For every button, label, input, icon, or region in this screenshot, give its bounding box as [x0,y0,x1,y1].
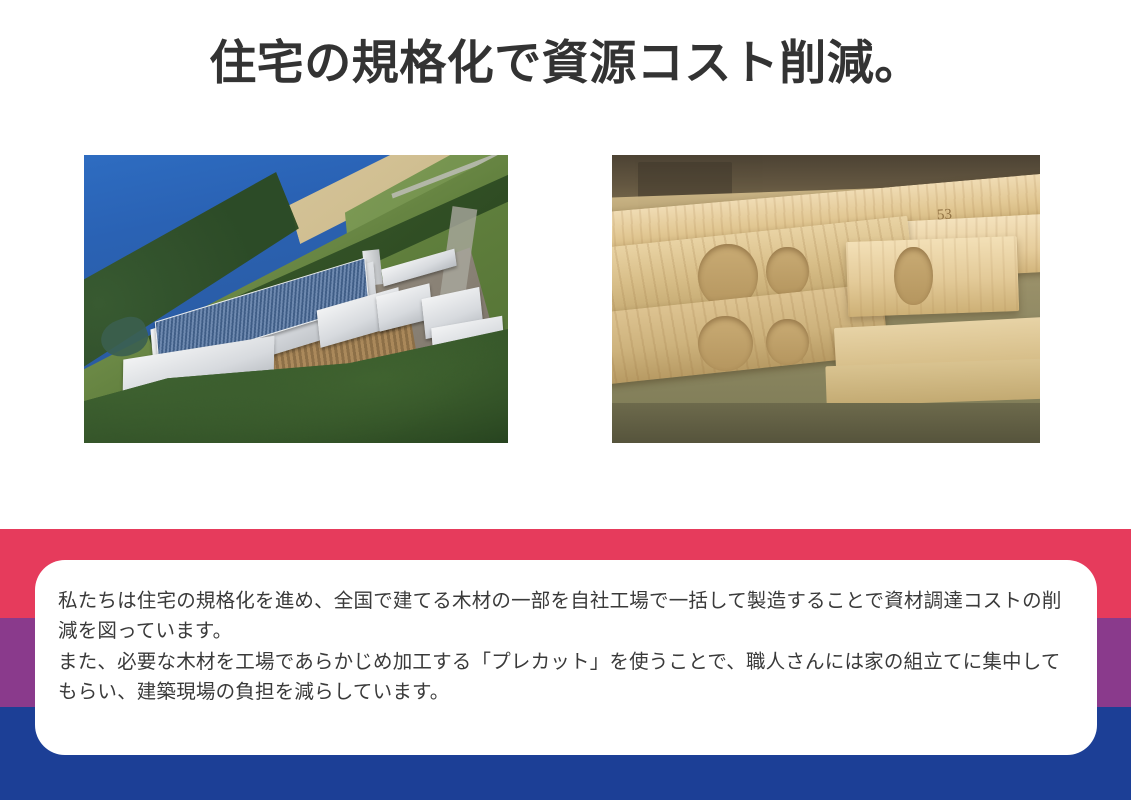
aerial-factory-photo [84,155,508,443]
aerial-factory-photo-art [84,155,508,443]
board-lower-right-2 [825,358,1040,407]
joint-notch-5 [894,247,933,305]
page-title: 住宅の規格化で資源コスト削減。 [0,34,1131,93]
joint-notch-3 [698,316,754,371]
workshop-floor [612,403,1040,443]
description-text: 私たちは住宅の規格化を進め、全国で建てる木材の一部を自社工場で一括して製造するこ… [58,586,1079,708]
slide-root: 住宅の規格化で資源コスト削減。 [0,0,1131,800]
precut-lumber-photo: 53 [612,155,1040,443]
lumber-mark-label: 53 [937,206,953,224]
joint-notch-4 [766,319,809,365]
beam-right-block [846,236,1020,317]
description-card: 私たちは住宅の規格化を進め、全国で建てる木材の一部を自社工場で一括して製造するこ… [35,560,1097,755]
precut-lumber-photo-art: 53 [612,155,1040,443]
joint-notch-2 [766,247,809,296]
